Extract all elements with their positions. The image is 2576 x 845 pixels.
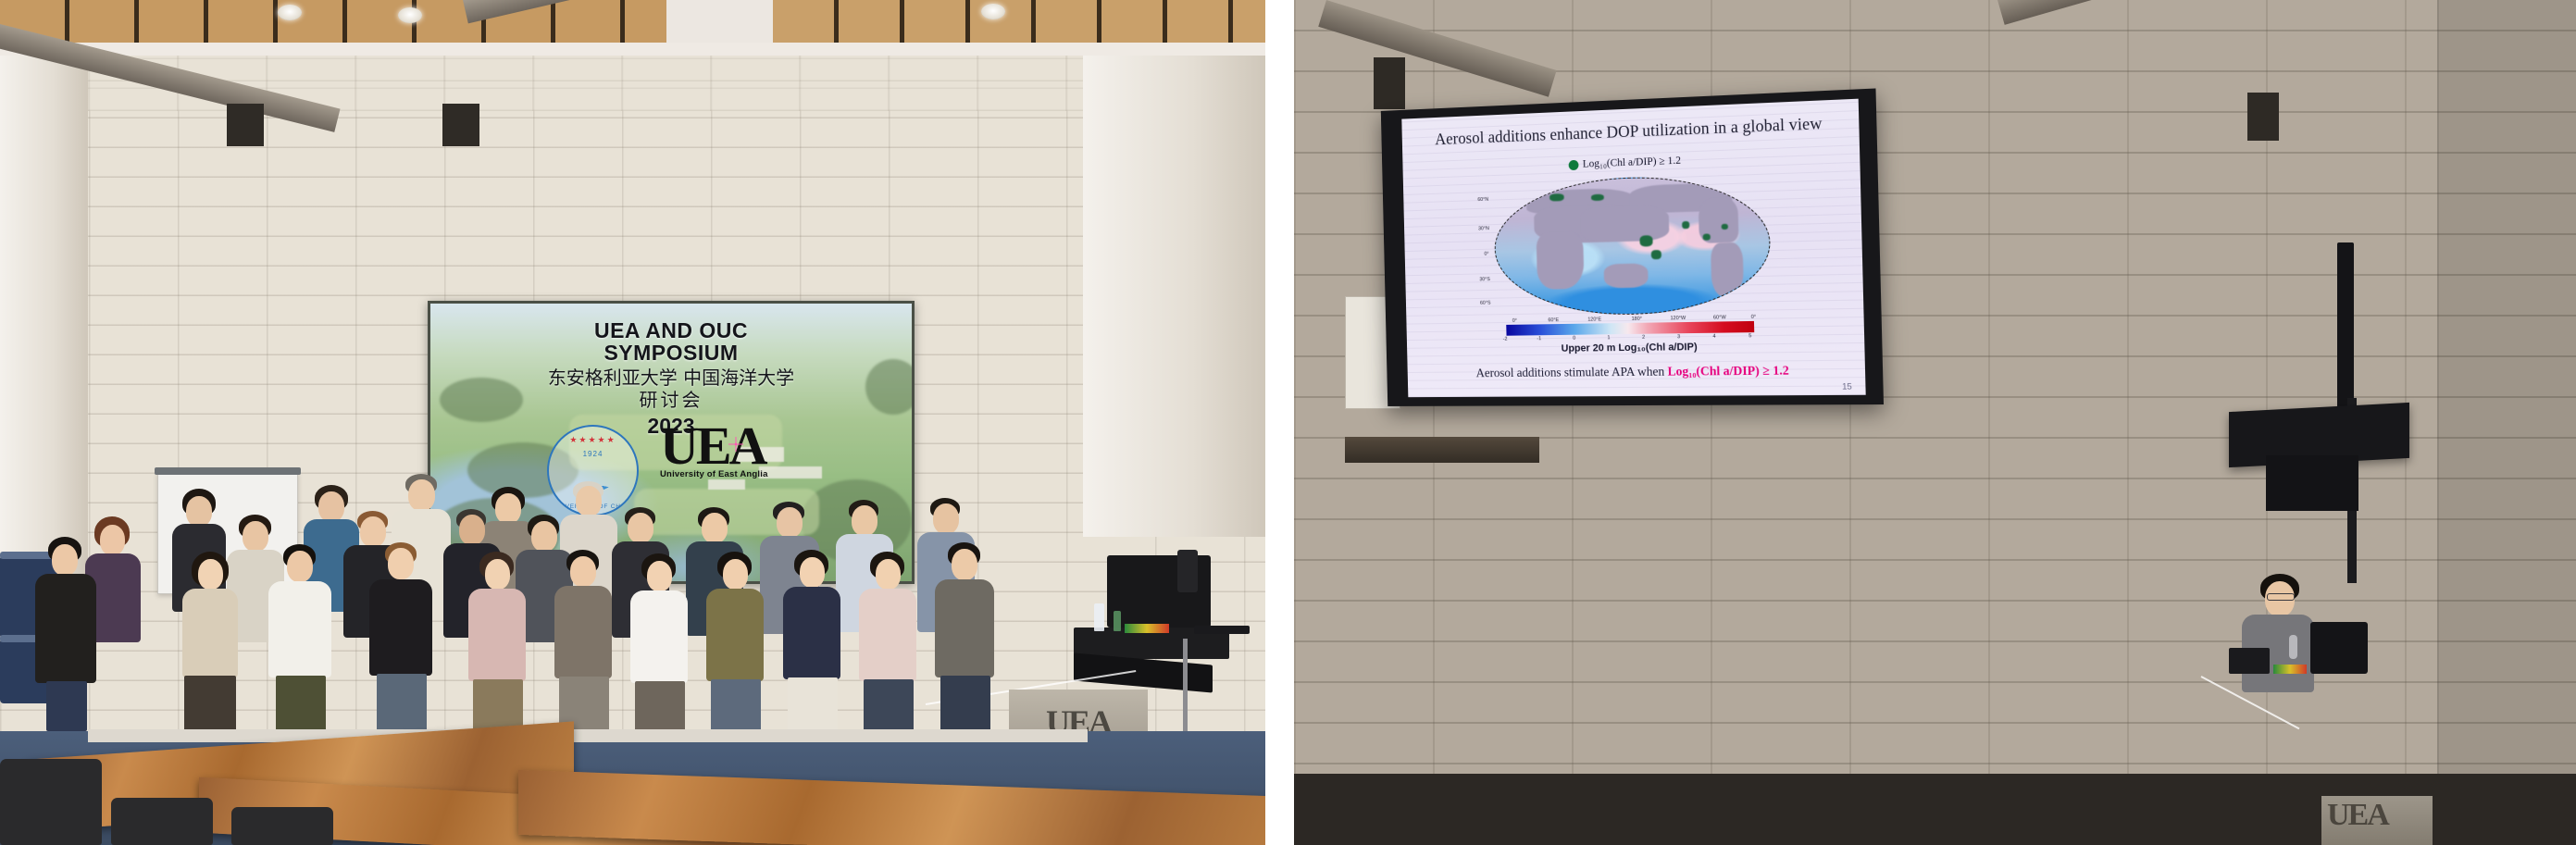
colorbar-tick: 3 [1677,334,1680,340]
bench [1345,437,1539,463]
lon-tick-0: 0° [1512,318,1517,324]
colorbar-tick: 5 [1748,333,1751,339]
glasses-icon [2267,593,2295,601]
beam-cap-right [442,104,479,146]
flipchart-rail [155,467,301,475]
av-camera [1177,550,1198,592]
side-wall [2437,0,2576,805]
bottom-statement-highlight: Log₁₀(Chl a/DIP) ≥ 1.2 [1667,363,1789,378]
lat-tick-60s: 60°S [1480,301,1491,306]
keyboard[interactable] [1194,626,1250,634]
ouc-seal-founded-year: 1924 [549,450,637,458]
uea-wall-sign-text: UEA [2327,798,2388,833]
colorbar-tick: -1 [1537,336,1541,342]
colorbar-tick: 1 [1607,335,1610,341]
lat-tick-30s: 30°S [1479,277,1490,282]
screenshot-canvas: UEA AND OUC SYMPOSIUM 东安格利亚大学 中国海洋大学 研讨会… [0,0,2576,845]
colorbar-tick: 2 [1642,335,1645,341]
uea-logo: UEA University of East Anglia [660,424,799,479]
uea-logo-star-icon [728,437,743,452]
slide-surface: Aerosol additions enhance DOP utilizatio… [1401,99,1865,398]
ouc-seal-stars: ★★★★★ [549,435,637,445]
laptop[interactable] [2229,648,2270,674]
wall-column-right [1083,56,1265,537]
beam-cap-right [2247,93,2279,141]
beam-cap-left [227,104,264,146]
presentation-photo-panel: Aerosol additions enhance DOP utilizatio… [1294,0,2576,845]
uea-logo-subtitle: University of East Anglia [660,469,799,479]
slide-title-line2: SYMPOSIUM [604,342,738,365]
presenter-monitor [2310,622,2368,674]
microphone-icon [2289,635,2297,659]
line-array-speaker [2337,242,2354,414]
ceiling-slats-right [773,0,1265,44]
slide-title-line1: UEA AND OUC [594,320,748,342]
hand-sanitiser-bottle [1094,603,1104,631]
colorbar-tick: 0 [1573,336,1575,342]
wall-column-left [0,56,88,574]
lon-tick-60w: 60°W [1713,315,1726,320]
lectern-base [2266,455,2358,511]
presentation-screen: Aerosol additions enhance DOP utilizatio… [1381,88,1884,405]
bottom-statement-prefix: Aerosol additions stimulate APA when [1475,365,1667,380]
slide-page-number: 15 [1842,381,1852,391]
water-bottle [1114,611,1121,631]
colorbar-tick: -2 [1503,337,1508,342]
downlight-icon [278,5,302,20]
status-light-strip [1125,624,1169,633]
lon-tick-180: 180° [1632,317,1642,322]
downlight-icon [398,7,422,23]
lat-tick-0: 0° [1484,252,1488,257]
beam-cap-left [1374,57,1405,109]
uea-wall-sign-right: UEA [2321,796,2433,845]
downlight-icon [981,4,1005,19]
slide-title-chinese-line2: 研讨会 [640,390,703,412]
lon-tick-120e: 120°E [1587,317,1601,322]
colorbar-tick: 4 [1712,334,1715,340]
lon-tick-120w: 120°W [1671,316,1686,321]
chair[interactable] [111,798,213,845]
lon-tick-0-right: 0° [1751,315,1757,320]
chair[interactable] [231,807,333,845]
chair[interactable] [0,759,102,845]
lat-tick-30n: 30°N [1478,226,1489,231]
robinson-projection-globe [1493,172,1772,317]
slide-title-chinese-line1: 东安格利亚大学 中国海洋大学 [548,367,794,390]
ceiling-plaster-top [666,0,787,43]
status-light-strip [2273,665,2307,674]
lon-tick-60e: 60°E [1548,317,1559,323]
group-photo-panel: UEA AND OUC SYMPOSIUM 东安格利亚大学 中国海洋大学 研讨会… [0,0,1265,845]
wall-skirting [88,729,1088,742]
slide-bottom-statement: Aerosol additions stimulate APA when Log… [1408,363,1866,381]
world-map-heatmap: 60°N 30°N 0° 30°S 60°S 0° 60°E 120°E 180… [1493,172,1772,317]
lat-tick-60n: 60°N [1477,197,1488,203]
legend-dot-icon [1568,159,1578,169]
